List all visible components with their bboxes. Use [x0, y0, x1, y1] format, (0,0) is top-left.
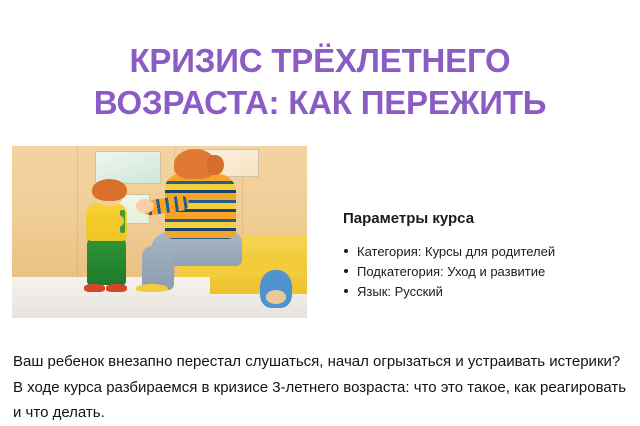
course-illustration	[12, 146, 307, 318]
bullet-icon	[344, 269, 348, 273]
course-params-heading: Параметры курса	[343, 210, 633, 228]
child-hair	[92, 179, 127, 201]
mother-hand	[136, 199, 154, 213]
course-media-and-params: Параметры курса Категория: Курсы для род…	[0, 146, 640, 321]
course-param-text: Язык: Русский	[357, 284, 443, 299]
bullet-icon	[344, 289, 348, 293]
course-param-text: Подкатегория: Уход и развитие	[357, 264, 545, 279]
wall-grain	[77, 146, 78, 277]
child-legs	[87, 237, 125, 285]
child-shoe	[106, 284, 127, 293]
mother-foot	[136, 284, 168, 293]
child-shoe	[84, 284, 105, 293]
course-param-subcategory: Подкатегория: Уход и развитие	[343, 262, 633, 282]
course-params: Параметры курса Категория: Курсы для род…	[343, 210, 633, 302]
course-description: Ваш ребенок внезапно перестал слушаться,…	[13, 349, 627, 426]
course-param-category: Категория: Курсы для родителей	[343, 242, 633, 262]
child-arms	[89, 215, 124, 227]
bullet-icon	[344, 249, 348, 253]
course-params-list: Категория: Курсы для родителей Подкатего…	[343, 242, 633, 302]
video-thumbnail[interactable]	[12, 146, 307, 318]
page-title: КРИЗИС ТРЁХЛЕТНЕГО ВОЗРАСТА: КАК ПЕРЕЖИТ…	[0, 40, 640, 124]
course-param-language: Язык: Русский	[343, 282, 633, 302]
course-param-text: Категория: Курсы для родителей	[357, 244, 555, 259]
